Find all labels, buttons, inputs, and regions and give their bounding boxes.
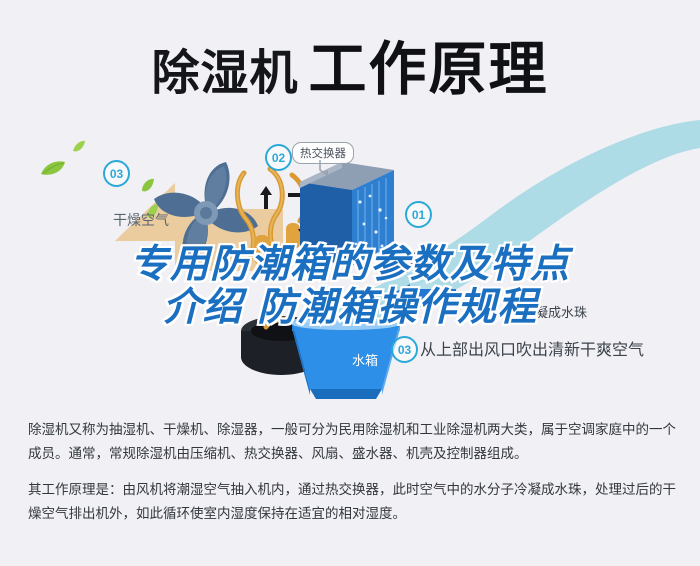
outlet-note: 从上部出风口吹出清新干爽空气 bbox=[420, 336, 644, 360]
page-title-part2: 工作原理 bbox=[309, 37, 549, 102]
page-title: 除湿机工作原理 bbox=[0, 22, 700, 102]
heat-exchanger-callout-label: 热交换器 bbox=[300, 148, 346, 160]
badge-03-bottom: 03 bbox=[391, 336, 418, 363]
article-body: 除湿机又称为抽湿机、干燥机、除湿器，一般可分为民用除湿机和工业除湿机两大类，属于… bbox=[28, 418, 676, 526]
dry-air-label: 干燥空气 bbox=[113, 210, 169, 230]
badge-03: 03 bbox=[103, 160, 130, 187]
overlay-headline-line1: 专用防潮箱的参数及特点 bbox=[0, 243, 700, 286]
article-paragraph-2: 其工作原理是：由风机将潮湿空气抽入机内，通过热交换器，此时空气中的水分子冷凝成水… bbox=[28, 478, 676, 526]
badge-02: 02 bbox=[265, 144, 292, 171]
article-paragraph-1: 除湿机又称为抽湿机、干燥机、除湿器，一般可分为民用除湿机和工业除湿机两大类，属于… bbox=[28, 418, 676, 466]
infographic-page: 除湿机工作原理 bbox=[0, 0, 700, 566]
leaf-icon bbox=[72, 140, 86, 154]
badge-01: 01 bbox=[405, 201, 432, 228]
overlay-headline: 专用防潮箱的参数及特点 介绍 防潮箱操作规程 bbox=[0, 243, 700, 329]
overlay-headline-line2: 介绍 防潮箱操作规程 bbox=[0, 286, 700, 329]
water-tank-label: 水箱 bbox=[352, 353, 378, 369]
callout-tail-icon bbox=[318, 160, 330, 176]
page-title-part1: 除湿机 bbox=[151, 47, 298, 100]
leaf-icon bbox=[40, 160, 66, 178]
